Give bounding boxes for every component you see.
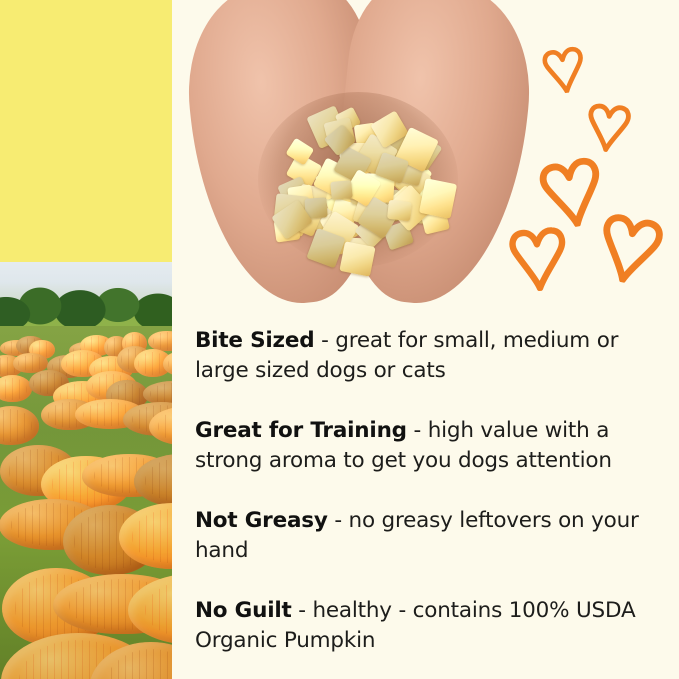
treat-cube bbox=[339, 241, 376, 276]
feature-item: No Guilt - healthy - contains 100% USDA … bbox=[195, 596, 659, 656]
hands-holding-treats-photo bbox=[188, 0, 536, 318]
treat-cube bbox=[387, 200, 412, 221]
feature-item: Bite Sized - great for small, medium or … bbox=[195, 326, 659, 386]
heart-icon bbox=[592, 210, 667, 288]
feature-title: Great for Training bbox=[195, 418, 407, 443]
heart-icon bbox=[584, 102, 633, 154]
badge-zigzag-edge bbox=[0, 246, 172, 266]
feature-item: Not Greasy - no greasy leftovers on your… bbox=[195, 506, 659, 566]
feature-item: Great for Training - high value with a s… bbox=[195, 416, 659, 476]
pumpkin-patch-photo bbox=[0, 250, 172, 679]
feature-list: Bite Sized - great for small, medium or … bbox=[195, 326, 659, 656]
heart-icon bbox=[507, 226, 569, 293]
treat-cube bbox=[330, 180, 353, 200]
treat-cube bbox=[418, 178, 456, 219]
feature-title: Not Greasy bbox=[195, 508, 328, 533]
heart-icon bbox=[536, 155, 609, 232]
left-column: MADE IN USA bbox=[0, 0, 172, 679]
made-in-usa-badge bbox=[0, 0, 172, 262]
product-infographic: MADE IN USA Bite Sized - great for small… bbox=[0, 0, 679, 679]
feature-title: Bite Sized bbox=[195, 328, 314, 353]
column-gutter bbox=[172, 0, 188, 679]
heart-icon bbox=[540, 45, 588, 96]
feature-title: No Guilt bbox=[195, 598, 292, 623]
